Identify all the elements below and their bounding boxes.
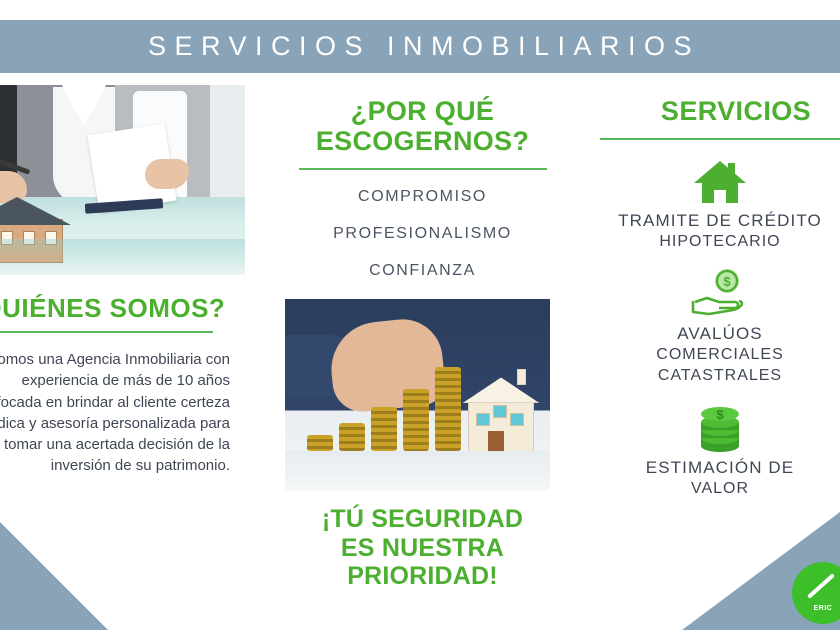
column-why-choose-us: ¿POR QUÉ ESCOGERNOS? COMPROMISO PROFESIO… [285,96,560,590]
logo-text: ERIC [792,605,840,612]
column-services: SERVICIOS TRAMITE DE CRÉDITO HIPOTECARIO… [600,96,840,499]
infographic-canvas: ¿QUIÉNES SOMOS? Somos una Agencia Inmobi… [0,0,840,630]
page-title: SERVICIOS INMOBILIARIOS [140,31,700,62]
service-sublabel: COMERCIALES [600,345,840,366]
tagline: ¡TÚ SEGURIDAD ES NUESTRA PRIORIDAD! [285,505,560,590]
value-item: CONFIANZA [285,262,560,280]
tagline-line3: PRIORIDAD! [285,562,560,590]
value-item: COMPROMISO [285,188,560,206]
service-sublabel: HIPOTECARIO [600,232,840,253]
service-item-avaluos: $ AVALÚOS COMERCIALES CATASTRALES [600,267,840,387]
why-divider [299,168,547,170]
service-label: AVALÚOS [600,323,840,345]
tagline-line2: ES NUESTRA [285,534,560,562]
svg-text:$: $ [716,407,724,422]
tagline-line1: ¡TÚ SEGURIDAD [285,505,560,533]
values-list: COMPROMISO PROFESIONALISMO CONFIANZA [285,188,560,280]
photo-team-meeting [0,85,245,275]
why-heading-line1: ¿POR QUÉ [285,96,560,126]
coin-stack-icon: $ [600,401,840,457]
service-item-credito: TRAMITE DE CRÉDITO HIPOTECARIO [600,154,840,253]
why-heading: ¿POR QUÉ ESCOGERNOS? [285,96,560,156]
svg-text:$: $ [723,274,731,289]
why-heading-line2: ESCOGERNOS? [285,126,560,156]
house-icon [600,154,840,210]
service-label: TRAMITE DE CRÉDITO [600,210,840,232]
logo-slash-icon [807,573,835,599]
value-item: PROFESIONALISMO [285,225,560,243]
column-about: ¿QUIÉNES SOMOS? Somos una Agencia Inmobi… [0,85,245,477]
about-heading: ¿QUIÉNES SOMOS? [0,293,245,324]
service-label: ESTIMACIÓN DE [600,457,840,479]
photo-coins-investment [285,299,550,491]
services-heading: SERVICIOS [600,96,840,127]
service-item-estimacion: $ ESTIMACIÓN DE VALOR [600,401,840,500]
model-house-graphic [462,369,540,453]
service-sublabel-2: CATASTRALES [600,366,840,387]
about-divider [0,331,213,333]
header-band: SERVICIOS INMOBILIARIOS [0,20,840,73]
services-divider [600,138,840,140]
about-body-text: Somos una Agencia Inmobiliaria con exper… [0,349,230,477]
service-sublabel: VALOR [600,479,840,500]
hand-holding-coin-icon: $ [600,267,840,323]
